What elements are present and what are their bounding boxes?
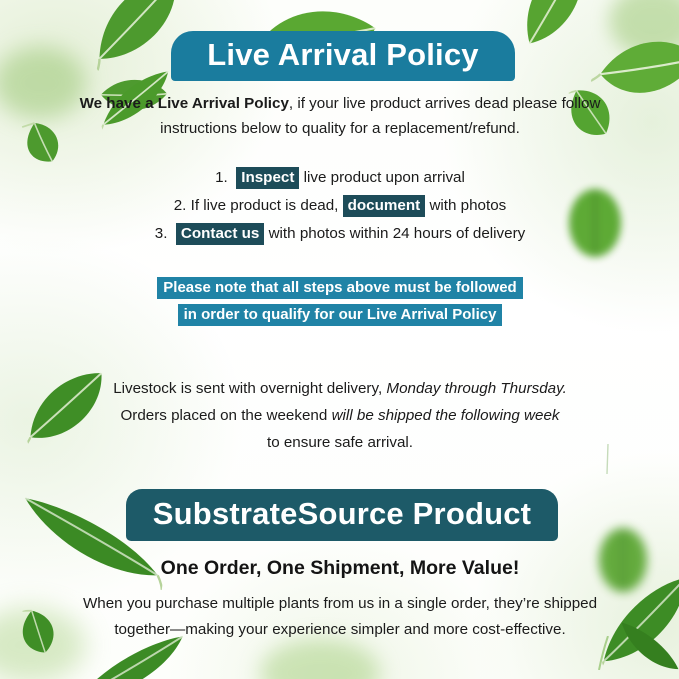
list-item: 2. If live product is dead, document wit… [60, 192, 620, 220]
livestock-line1-normal: Livestock is sent with overnight deliver… [113, 380, 382, 397]
policy-note-text-1: Please note that all steps above must be… [157, 277, 522, 299]
live-arrival-policy-title: Live Arrival Policy [207, 37, 478, 73]
step-1-highlight: Inspect [236, 167, 299, 189]
step-3-highlight: Contact us [176, 223, 264, 245]
intro-line2: instructions below to quality for a repl… [160, 120, 520, 137]
closing-line1: When you purchase multiple plants from u… [83, 595, 597, 612]
livestock-shipping-paragraph: Livestock is sent with overnight deliver… [90, 375, 590, 456]
intro-rest-line1: , if your live product arrives dead plea… [289, 95, 601, 112]
closing-line2: together—making your experience simpler … [114, 621, 565, 638]
livestock-line2-normal: Orders placed on the weekend [120, 407, 327, 424]
step-2-pre: If live product is dead, [191, 197, 339, 214]
policy-note-line-1: Please note that all steps above must be… [60, 274, 620, 301]
livestock-line3: to ensure safe arrival. [267, 434, 413, 451]
promo-graphic: Live Arrival Policy We have a Live Arriv… [0, 0, 679, 679]
step-2-rest: with photos [429, 197, 506, 214]
intro-paragraph: We have a Live Arrival Policy, if your l… [70, 91, 610, 141]
step-2-highlight: document [343, 195, 426, 217]
closing-paragraph: When you purchase multiple plants from u… [80, 591, 600, 643]
substrate-source-product-title: SubstrateSource Product [153, 496, 531, 532]
substrate-source-product-banner: SubstrateSource Product [126, 489, 558, 541]
live-arrival-policy-banner: Live Arrival Policy [171, 31, 515, 81]
step-1-rest: live product upon arrival [304, 169, 465, 186]
policy-note-text-2: in order to qualify for our Live Arrival… [178, 304, 503, 326]
livestock-line2-italic: will be shipped the following week [332, 407, 560, 424]
list-item: 3. Contact us with photos within 24 hour… [60, 220, 620, 248]
step-3-number: 3. [155, 225, 168, 242]
livestock-line1-italic: Monday through Thursday. [386, 380, 566, 397]
step-3-rest: with photos within 24 hours of delivery [269, 225, 526, 242]
policy-note-line-2: in order to qualify for our Live Arrival… [60, 301, 620, 328]
step-1-number: 1. [215, 169, 228, 186]
closing-headline: One Order, One Shipment, More Value! [60, 557, 620, 580]
steps-list: 1. Inspect live product upon arrival 2. … [60, 164, 620, 248]
step-2-number: 2. [174, 197, 187, 214]
intro-bold-lead: We have a Live Arrival Policy [80, 95, 289, 112]
list-item: 1. Inspect live product upon arrival [60, 164, 620, 192]
policy-note: Please note that all steps above must be… [60, 274, 620, 328]
